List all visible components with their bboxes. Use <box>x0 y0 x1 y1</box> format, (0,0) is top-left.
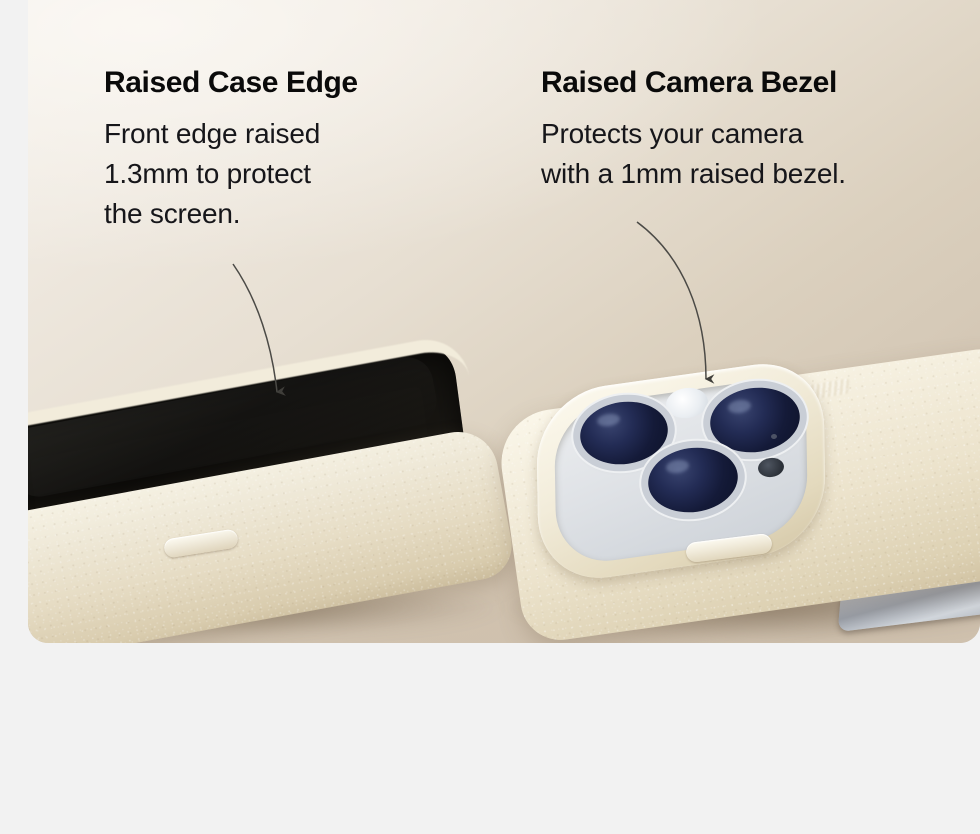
callout-title-case-edge: Raised Case Edge <box>104 66 358 100</box>
phone-screen-up <box>28 352 528 642</box>
phone-camera-up <box>488 350 980 643</box>
callout-body-line: the screen. <box>104 194 358 234</box>
callout-raised-case-edge: Raised Case Edge Front edge raised 1.3mm… <box>104 66 358 234</box>
callout-body-line: Front edge raised <box>104 114 358 154</box>
callout-body-line: 1.3mm to protect <box>104 154 358 194</box>
callout-body-case-edge: Front edge raised 1.3mm to protect the s… <box>104 114 358 234</box>
callout-title-camera-bezel: Raised Camera Bezel <box>541 66 846 100</box>
callout-body-line: Protects your camera <box>541 114 846 154</box>
callout-body-line: with a 1mm raised bezel. <box>541 154 846 194</box>
hero-image-card: Raised Case Edge Front edge raised 1.3mm… <box>28 0 980 643</box>
callout-body-camera-bezel: Protects your camera with a 1mm raised b… <box>541 114 846 194</box>
callout-raised-camera-bezel: Raised Camera Bezel Protects your camera… <box>541 66 846 194</box>
